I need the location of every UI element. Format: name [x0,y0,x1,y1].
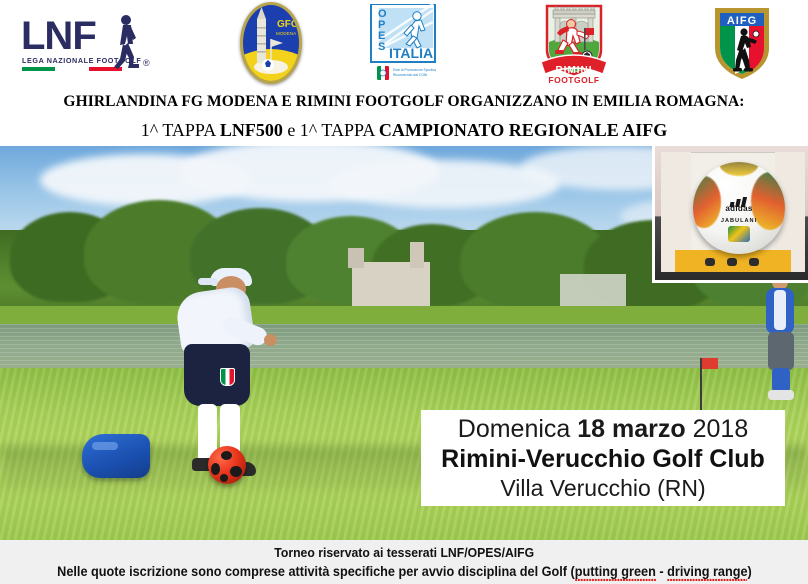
footer-line-2: Nelle quote iscrizione sono comprese att… [57,562,752,582]
italian-flag-icon [22,67,122,71]
second-player-sock [772,368,790,392]
logo-gfg-modena: GFG MODENA [228,0,314,86]
second-player-shoe [768,390,794,400]
spellcheck-putting-green: putting green [574,564,655,581]
headline-tappa-1: 1^ TAPPA [141,120,220,140]
jabulani-wordmark: JABULANI [721,217,757,226]
event-date-strong: 18 marzo [577,415,685,443]
spellcheck-driving-range: driving range [667,564,747,581]
opes-coni-note-line2: Riconosciuto dal CONI [393,73,427,77]
footer-line-2-close: ) [747,564,751,579]
logo-rimini-footgolf: RIMINI FOOTGOLF [528,0,620,86]
registered-mark: ® [143,58,150,68]
headline-line-2: 1^ TAPPA LNF500 e 1^ TAPPA CAMPIONATO RE… [0,112,808,142]
lnf-wordmark: LNF [21,16,96,56]
inset-ball-photo: adidas JABULANI [652,146,808,283]
logo-opes-italia: OPES ITALIA Ente di Promozione Sportiva … [360,0,450,86]
footer-line-1: Torneo riservato ai tesserati LNF/OPES/A… [274,543,534,562]
headline-tappa-2: e 1^ TAPPA [283,120,379,140]
event-venue-location: Villa Verucchio (RN) [500,474,705,503]
footgolf-ball [208,446,246,484]
lake [0,324,808,374]
player-hand [264,334,277,346]
rimini-footgolf-crest-icon: RIMINI FOOTGOLF [537,2,611,84]
event-day-label: Domenica [458,415,578,443]
aifg-shield-icon: AIFG [711,4,773,82]
event-details-box: Domenica 18 marzo 2018 Rimini-Verucchio … [421,410,785,506]
shorts-italy-badge-icon [220,368,235,386]
logo-bar: LNF LEGA NAZIONALE FOOTGOLF ® [0,0,808,86]
opes-italia-icon: OPES ITALIA Ente di Promozione Sportiva … [369,4,441,82]
opes-italia-label: ITALIA [389,45,433,61]
second-player-jersey [766,288,794,334]
footer-line-2-text: Nelle quote iscrizione sono comprese att… [57,564,575,579]
player-shorts [184,344,250,406]
opes-coni-note-line1: Ente di Promozione Sportiva [393,68,436,72]
ball-packaging-box: adidas JABULANI [661,152,805,272]
blue-equipment-bag [82,434,150,478]
headline-campionato: CAMPIONATO REGIONALE AIFG [379,120,667,140]
event-year: 2018 [686,415,749,443]
aifg-ball-icon [753,31,759,37]
logo-aifg: AIFG [696,0,788,86]
logo-lnf: LNF LEGA NAZIONALE FOOTGOLF ® [8,0,158,86]
event-date-line: Domenica 18 marzo 2018 [458,414,748,444]
rimini-flag-icon [585,28,594,35]
event-venue-name: Rimini-Verucchio Golf Club [441,444,765,474]
footer-band: Torneo riservato ai tesserati LNF/OPES/A… [0,540,808,584]
headline-line-1: GHIRLANDINA FG MODENA E RIMINI FOOTGOLF … [0,86,808,112]
headline-block: GHIRLANDINA FG MODENA E RIMINI FOOTGOLF … [0,86,808,146]
svg-text:S: S [378,41,385,53]
coni-flag-icon [377,66,389,80]
poster-root: LNF LEGA NAZIONALE FOOTGOLF ® [0,0,808,584]
world-cup-emblem-icon [728,226,750,242]
footer-line-2-sep: - [655,564,666,579]
jabulani-ball: adidas JABULANI [693,162,785,254]
aifg-wordmark: AIFG [727,15,757,27]
headline-lnf500: LNF500 [220,120,283,140]
castle-building [352,262,430,310]
rimini-footgolf-label: FOOTGOLF [548,75,599,84]
gfg-city: MODENA [276,31,297,36]
second-player-shorts [768,332,794,370]
pin-flag-icon [702,358,718,369]
adidas-wordmark: adidas [725,204,752,213]
ghirlandina-tower-icon: GFG MODENA [243,5,299,81]
gfg-initials: GFG [277,19,299,30]
clubhouse-building [560,274,626,310]
second-player [760,274,800,402]
